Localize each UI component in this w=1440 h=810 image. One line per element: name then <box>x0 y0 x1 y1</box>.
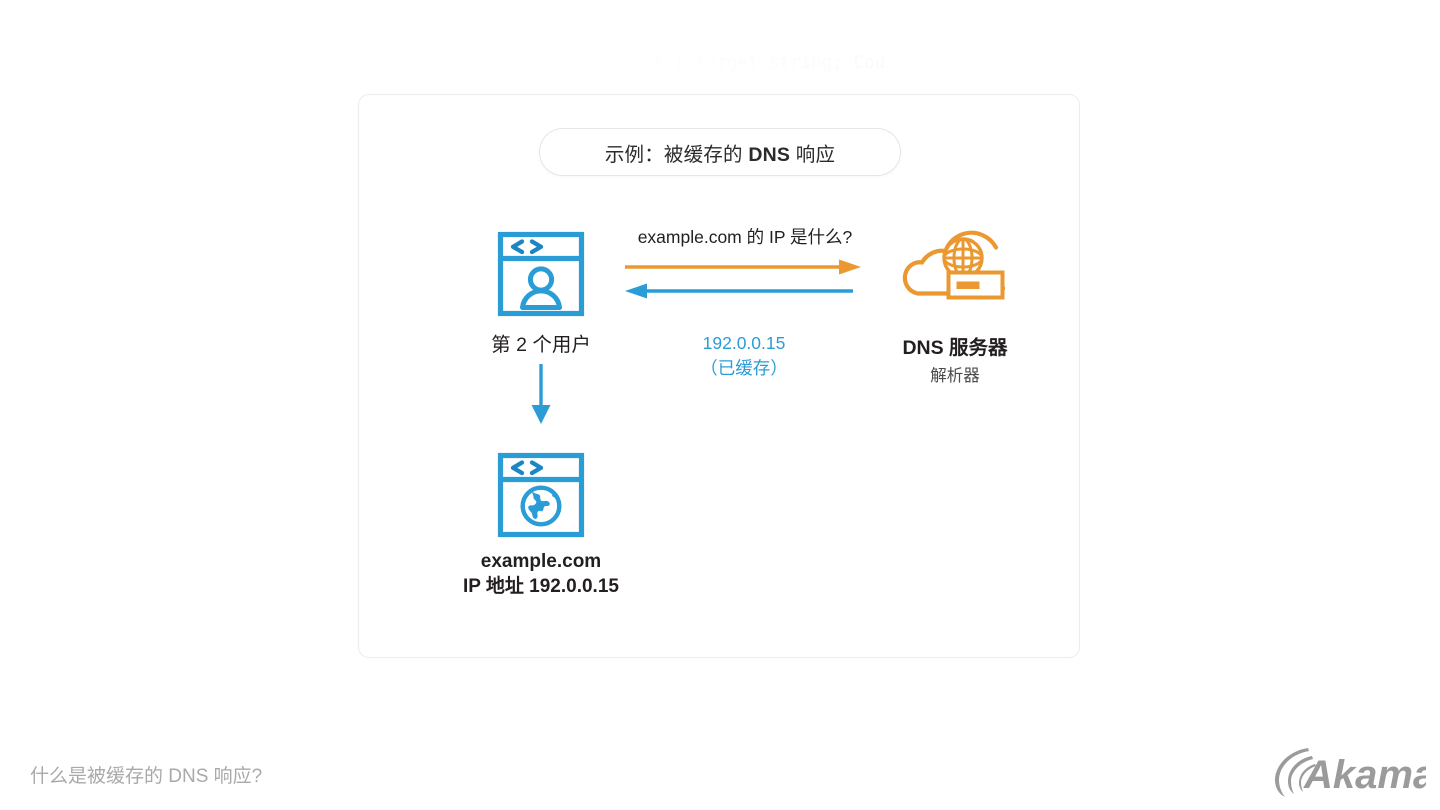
node-website-label-domain: example.com <box>441 549 641 574</box>
diagram-title-suffix: 响应 <box>790 144 835 166</box>
arrow-down-blue-icon <box>520 364 562 426</box>
code-line: string "time" ); type ControlMessage str… <box>0 51 1440 77</box>
browser-window-globe-icon <box>441 452 641 538</box>
node-user-label: 第 2 个用户 <box>441 328 641 357</box>
node-website-label-ip: IP 地址 192.0.0.15 <box>441 574 641 599</box>
arrow-right-orange-icon <box>625 258 863 276</box>
node-dns-server-sublabel: 解析器 <box>855 362 1055 386</box>
arrow-left-blue-icon <box>625 282 853 300</box>
flow-response-ip: 192.0.0.15 <box>618 331 870 356</box>
akamai-logo: Akamai <box>1268 742 1426 800</box>
akamai-wordmark: Akamai <box>1303 753 1426 797</box>
node-website: example.com IP 地址 192.0.0.15 <box>441 452 641 599</box>
diagram-canvas: string "time" ); type ControlMessage str… <box>0 0 1440 810</box>
diagram-title: 示例：被缓存的 DNS 响应 <box>605 138 835 167</box>
node-user: 第 2 个用户 <box>441 231 641 357</box>
diagram-title-prefix: 示例：被缓存的 <box>605 144 749 166</box>
flow-query-label: example.com 的 IP 是什么? <box>600 224 890 249</box>
node-dns-server-label: DNS 服务器 <box>855 331 1055 360</box>
node-dns-server: DNS 服务器 解析器 <box>855 228 1055 386</box>
diagram-title-pill: 示例：被缓存的 DNS 响应 <box>539 128 901 176</box>
footer-caption: 什么是被缓存的 DNS 响应? <box>30 761 262 788</box>
flow-response-label: 192.0.0.15 （已缓存） <box>618 331 870 381</box>
flow-response-cached: （已缓存） <box>618 356 870 381</box>
diagram-title-bold: DNS <box>748 144 790 166</box>
code-line: if result { fmt.Fprint(w, "ACTIVE" <box>0 665 1440 691</box>
